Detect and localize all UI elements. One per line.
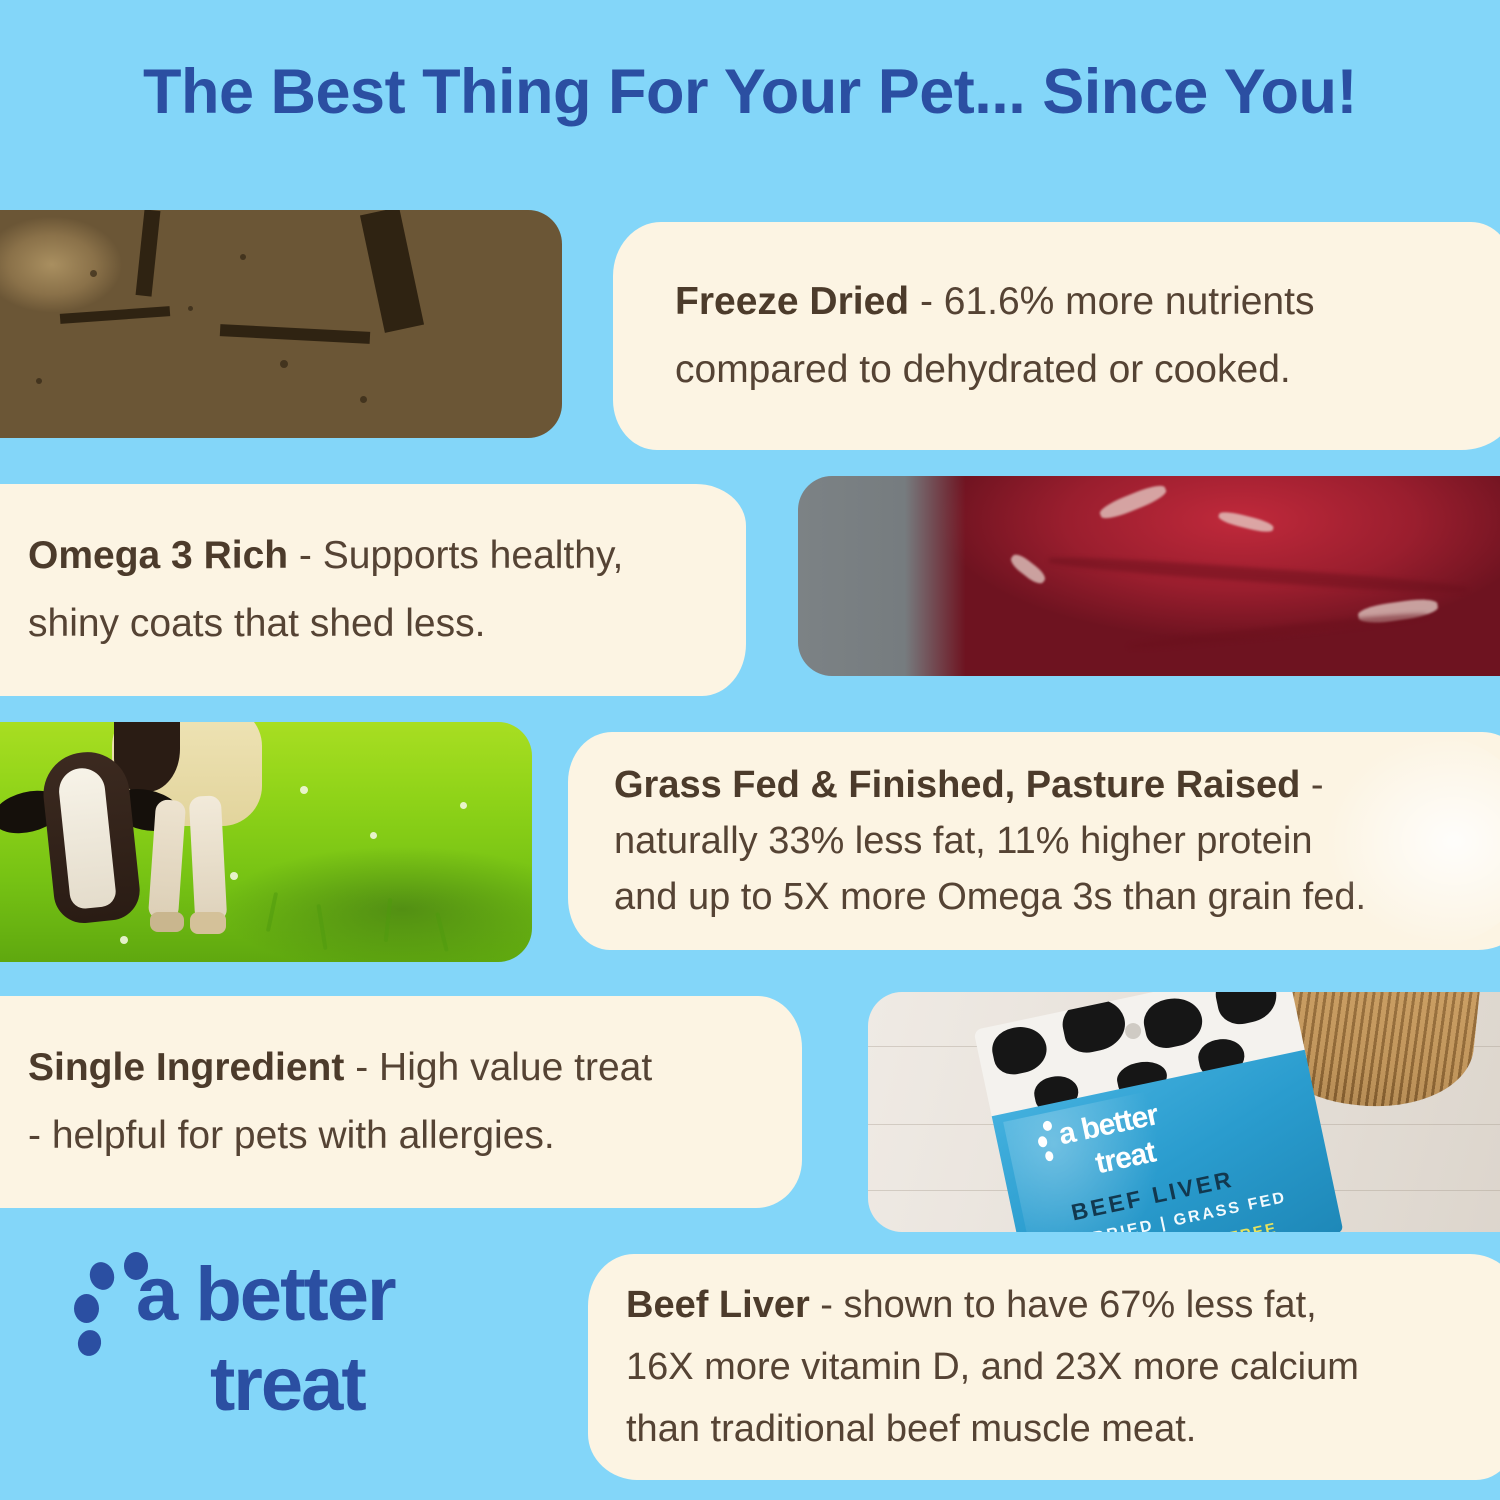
feature-text: - bbox=[1300, 764, 1323, 806]
feature-line: - helpful for pets with allergies. bbox=[28, 1102, 802, 1170]
photo-detail bbox=[435, 912, 449, 952]
photo-detail bbox=[460, 802, 467, 809]
cow-figure bbox=[0, 722, 246, 962]
photo-detail bbox=[1048, 553, 1468, 596]
product-package-photo: a better treat BEEF LIVER ZE DRIED | GRA… bbox=[868, 992, 1500, 1232]
photo-detail bbox=[1128, 610, 1427, 651]
photo-detail bbox=[300, 786, 308, 794]
photo-detail bbox=[360, 396, 367, 403]
photo-detail bbox=[266, 892, 278, 932]
photo-detail bbox=[90, 270, 97, 277]
photo-detail bbox=[120, 936, 128, 944]
cow-hoof bbox=[190, 912, 226, 934]
feature-card-omega-3-rich: Omega 3 Rich - Supports healthy, shiny c… bbox=[0, 484, 746, 696]
feature-line: Grass Fed & Finished, Pasture Raised - bbox=[614, 757, 1500, 813]
feature-text: - High value treat bbox=[344, 1046, 652, 1089]
feature-line: naturally 33% less fat, 11% higher prote… bbox=[614, 813, 1500, 869]
grazing-cow-pasture-photo bbox=[0, 722, 532, 962]
photo-detail bbox=[1217, 509, 1274, 534]
raw-beef-meat-photo bbox=[798, 476, 1500, 676]
photo-detail bbox=[36, 378, 42, 384]
feature-title: Grass Fed & Finished, Pasture Raised bbox=[614, 764, 1300, 806]
feature-line: 16X more vitamin D, and 23X more calcium bbox=[626, 1336, 1500, 1398]
photo-detail bbox=[220, 324, 370, 344]
feature-line: Single Ingredient - High value treat bbox=[28, 1034, 802, 1102]
feature-line: shiny coats that shed less. bbox=[28, 590, 746, 658]
feature-line: Freeze Dried - 61.6% more nutrients bbox=[675, 268, 1500, 336]
feature-card-freeze-dried: Freeze Dried - 61.6% more nutrients comp… bbox=[613, 222, 1500, 450]
product-package: a better treat BEEF LIVER ZE DRIED | GRA… bbox=[973, 992, 1342, 1232]
feature-text: - Supports healthy, bbox=[288, 534, 623, 577]
paw-dot-icon bbox=[75, 1328, 104, 1359]
cow-hoof bbox=[150, 912, 184, 932]
feature-text: - shown to have 67% less fat, bbox=[810, 1284, 1317, 1326]
photo-detail bbox=[1098, 481, 1169, 522]
feature-line: compared to dehydrated or cooked. bbox=[675, 336, 1500, 404]
feature-text: - 61.6% more nutrients bbox=[909, 280, 1314, 323]
photo-detail bbox=[360, 210, 424, 333]
photo-detail bbox=[384, 898, 393, 942]
feature-line: Omega 3 Rich - Supports healthy, bbox=[28, 522, 746, 590]
photo-detail bbox=[136, 210, 161, 297]
feature-card-grass-fed: Grass Fed & Finished, Pasture Raised - n… bbox=[568, 732, 1500, 950]
photo-detail bbox=[1008, 551, 1048, 587]
feature-title: Beef Liver bbox=[626, 1284, 810, 1326]
infographic-canvas: The Best Thing For Your Pet... Since You… bbox=[0, 0, 1500, 1500]
brand-name-line2: treat bbox=[210, 1342, 365, 1428]
brand-logo: a better treat bbox=[62, 1246, 532, 1456]
feature-title: Omega 3 Rich bbox=[28, 534, 288, 577]
feature-title: Freeze Dried bbox=[675, 280, 909, 323]
paw-dot-icon bbox=[86, 1259, 117, 1293]
photo-detail bbox=[188, 306, 193, 311]
photo-detail bbox=[230, 872, 238, 880]
brand-name-line1: a better bbox=[136, 1252, 395, 1338]
feature-line: and up to 5X more Omega 3s than grain fe… bbox=[614, 869, 1500, 925]
paw-dot-icon bbox=[74, 1294, 99, 1323]
photo-detail bbox=[280, 360, 288, 368]
photo-detail bbox=[60, 306, 170, 324]
cow-leg bbox=[189, 795, 228, 923]
page-title: The Best Thing For Your Pet... Since You… bbox=[0, 56, 1500, 128]
photo-detail bbox=[316, 904, 327, 950]
freeze-dried-liver-cubes-photo bbox=[0, 210, 562, 438]
feature-card-single-ingredient: Single Ingredient - High value treat - h… bbox=[0, 996, 802, 1208]
feature-title: Single Ingredient bbox=[28, 1046, 344, 1089]
photo-detail bbox=[370, 832, 377, 839]
feature-card-beef-liver: Beef Liver - shown to have 67% less fat,… bbox=[588, 1254, 1500, 1480]
photo-detail bbox=[240, 254, 246, 260]
feature-line: than traditional beef muscle meat. bbox=[626, 1398, 1500, 1460]
feature-line: Beef Liver - shown to have 67% less fat, bbox=[626, 1274, 1500, 1336]
